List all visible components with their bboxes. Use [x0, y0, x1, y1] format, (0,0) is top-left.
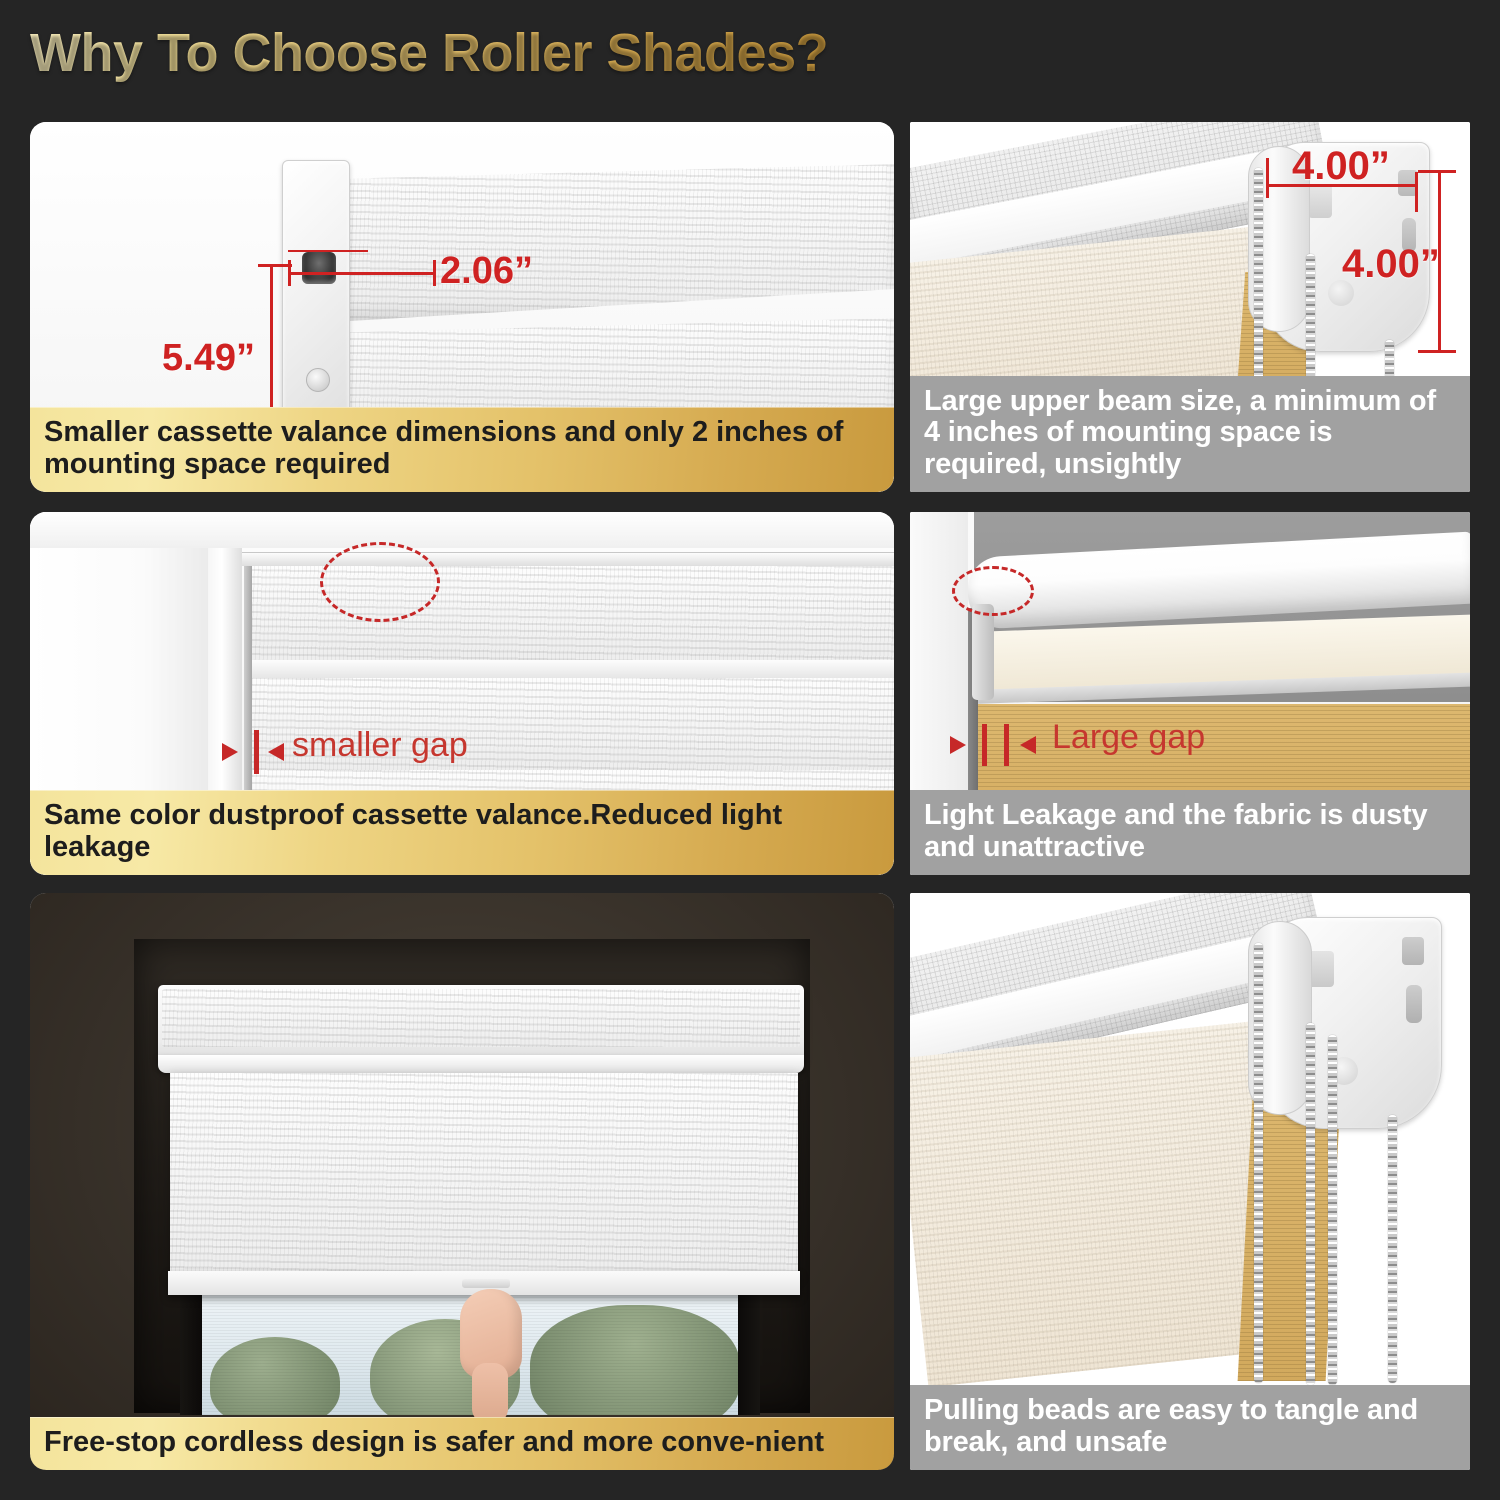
panel-caption: Smaller cassette valance dimensions and … — [30, 407, 894, 492]
beam-width-tick-left — [1266, 158, 1269, 198]
window-frame-top — [30, 512, 894, 548]
beam-height-tick-top — [1418, 170, 1456, 173]
bead-chain-left — [1254, 943, 1263, 1383]
pulling-beads-photo — [910, 893, 1470, 1470]
width-extension-line — [288, 250, 368, 252]
bracket-notch-top — [1402, 937, 1424, 965]
gap-arrow-left — [1020, 736, 1036, 754]
gap-arrow-right — [950, 736, 966, 754]
page-title: Why To Choose Roller Shades? — [30, 22, 828, 84]
beam-height-tick-bottom — [1418, 350, 1456, 353]
forearm — [472, 1363, 508, 1423]
cordless-window-photo — [30, 893, 894, 1470]
highlight-ellipse — [320, 542, 440, 622]
height-dimension-label: 5.49” — [162, 337, 255, 380]
gap-arrow-left — [268, 743, 284, 761]
panel-light-leakage: Large gap Light Leakage and the fabric i… — [910, 512, 1470, 875]
panel-pulling-beads: Pulling beads are easy to tangle and bre… — [910, 893, 1470, 1470]
gap-label: Large gap — [1052, 718, 1205, 757]
panel-cassette-dimensions: 2.06” 5.49” Smaller cassette valance dim… — [30, 122, 894, 492]
panel-cordless-design: Free-stop cordless design is safer and m… — [30, 893, 894, 1470]
panel-caption: Large upper beam size, a minimum of 4 in… — [910, 376, 1470, 492]
panel-caption: Same color dustproof cassette valance.Re… — [30, 790, 894, 875]
panel-large-upper-beam: 4.00” 4.00” Large upper beam size, a min… — [910, 122, 1470, 492]
width-dimension-tick-right — [433, 260, 436, 286]
bead-chain-mid — [1306, 1023, 1315, 1385]
end-cap-slot — [302, 252, 336, 284]
cassette-valance-face — [162, 989, 800, 1047]
width-dimension-label: 2.06” — [440, 250, 533, 293]
gap-label: smaller gap — [292, 726, 468, 765]
gap-arrow-right — [222, 743, 238, 761]
cassette-bottom-lip — [158, 1055, 804, 1073]
bracket-slot-upper — [1308, 184, 1332, 218]
shade-fabric — [170, 1073, 798, 1275]
panel-caption: Pulling beads are easy to tangle and bre… — [910, 1385, 1470, 1470]
end-cap-screw — [306, 368, 330, 392]
gap-marker-bar-right — [1004, 724, 1009, 766]
highlight-ellipse — [952, 566, 1034, 616]
width-dimension-line — [288, 272, 436, 275]
gap-marker-bar — [254, 730, 259, 774]
beam-height-label: 4.00” — [1342, 242, 1440, 287]
bottom-rail-handle — [462, 1279, 510, 1288]
bead-chain-right — [1388, 1115, 1397, 1383]
panel-dustproof-valance: smaller gap Same color dustproof cassett… — [30, 512, 894, 875]
panel-caption: Light Leakage and the fabric is dusty an… — [910, 790, 1470, 875]
bead-chain-mid-2 — [1328, 1035, 1337, 1385]
beam-width-label: 4.00” — [1292, 144, 1390, 189]
shade-fabric-divider — [246, 660, 894, 678]
beam-width-tick-right — [1415, 172, 1418, 212]
infographic-root: Why To Choose Roller Shades? 2.06” 5.49” — [0, 0, 1500, 1500]
height-dimension-tick-top — [258, 264, 292, 267]
gap-marker-bar-left — [982, 724, 987, 766]
mounting-bracket — [972, 604, 994, 700]
panel-caption: Free-stop cordless design is safer and m… — [30, 1417, 894, 1470]
bracket-notch-mid — [1406, 985, 1422, 1023]
